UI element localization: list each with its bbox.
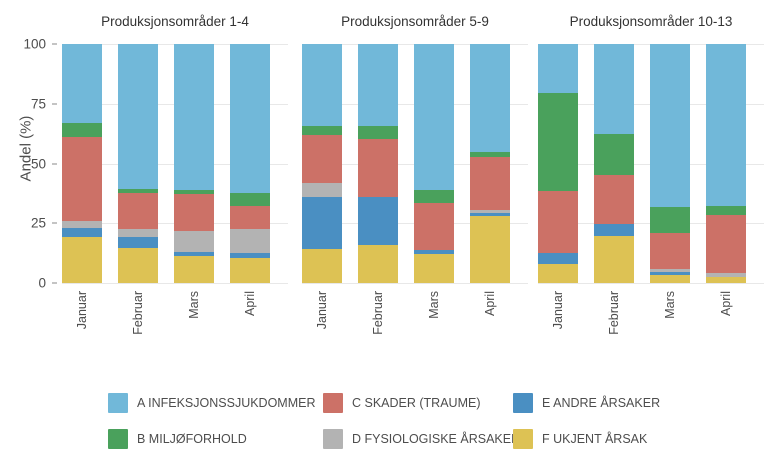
bar-segment-f[interactable] [538,264,578,283]
stacked-bar[interactable] [302,44,342,283]
plot-area [538,44,764,283]
bar-segment-a[interactable] [302,44,342,126]
plot-area [62,44,288,283]
bar-segment-a[interactable] [538,44,578,93]
stacked-bar[interactable] [594,44,634,283]
gridline [538,283,764,284]
stacked-bar[interactable] [650,44,690,283]
bar-segment-c[interactable] [302,135,342,183]
y-axis-tick-label: 0 [0,276,46,291]
bar-segment-e[interactable] [62,228,102,237]
legend-swatch-icon [513,393,533,413]
x-axis-tick-label: Januar [551,291,565,329]
legend-item[interactable]: C SKADER (TRAUME) [323,393,513,413]
x-axis-tick-label: Februar [131,291,145,335]
bar-segment-a[interactable] [470,44,510,152]
bar-segment-e[interactable] [118,237,158,248]
chart-panel: Produksjonsområder 5-9JanuarFebruarMarsA… [302,44,528,283]
bar-segment-b[interactable] [302,126,342,135]
bar-segment-c[interactable] [414,203,454,250]
legend-label: F UKJENT ÅRSAK [542,432,647,446]
bar-segment-f[interactable] [650,275,690,283]
legend-swatch-icon [513,429,533,449]
y-axis-tick-label: 100 [0,37,46,52]
bar-segment-d[interactable] [302,183,342,197]
x-axis-tick-label: Februar [371,291,385,335]
bar-segment-b[interactable] [706,206,746,215]
bar-segment-d[interactable] [118,229,158,237]
bar-segment-e[interactable] [414,250,454,254]
panel-title: Produksjonsområder 10-13 [538,14,764,29]
bar-segment-c[interactable] [706,215,746,273]
x-axis-tick-label: April [243,291,257,316]
legend-swatch-icon [323,429,343,449]
bar-segment-c[interactable] [62,137,102,221]
bar-segment-f[interactable] [230,258,270,283]
x-axis-tick-label: Mars [427,291,441,319]
bar-segment-e[interactable] [174,252,214,256]
bar-segment-a[interactable] [118,44,158,189]
bar-segment-e[interactable] [358,197,398,245]
y-axis-tick-mark [52,44,57,45]
chart-panel: Produksjonsområder 1-4JanuarFebruarMarsA… [62,44,288,283]
legend-label: E ANDRE ÅRSAKER [542,396,660,410]
legend-swatch-icon [108,429,128,449]
y-axis-title: Andel (%) [18,69,35,229]
bar-segment-f[interactable] [358,245,398,283]
bar-segment-c[interactable] [358,139,398,198]
bar-segment-a[interactable] [706,44,746,206]
legend-label: C SKADER (TRAUME) [352,396,480,410]
bar-segment-f[interactable] [302,249,342,283]
y-axis-tick-label: 25 [0,216,46,231]
bar-segment-f[interactable] [470,216,510,283]
bar-segment-c[interactable] [174,194,214,232]
x-axis-tick-label: Mars [187,291,201,319]
legend-label: A INFEKSJONSSJUKDOMMER [137,396,316,410]
legend-swatch-icon [323,393,343,413]
legend-swatch-icon [108,393,128,413]
y-axis-tick-mark [52,103,57,104]
bar-segment-a[interactable] [230,44,270,193]
bar-segment-b[interactable] [650,207,690,233]
bar-segment-b[interactable] [414,190,454,203]
y-axis-tick-label: 75 [0,96,46,111]
stacked-bar[interactable] [414,44,454,283]
bar-segment-d[interactable] [62,221,102,228]
bar-segment-a[interactable] [414,44,454,190]
legend-item[interactable]: E ANDRE ÅRSAKER [513,393,688,413]
bar-segment-a[interactable] [650,44,690,207]
bar-segment-d[interactable] [470,210,510,213]
bar-segment-e[interactable] [470,213,510,216]
x-axis-tick-label: Februar [607,291,621,335]
bar-segment-f[interactable] [62,237,102,283]
bar-segment-c[interactable] [470,157,510,210]
x-axis-tick-label: April [483,291,497,316]
plot-area [302,44,528,283]
legend-item[interactable]: F UKJENT ÅRSAK [513,429,688,449]
panel-title: Produksjonsområder 5-9 [302,14,528,29]
bar-segment-a[interactable] [62,44,102,123]
y-axis-tick-mark [52,283,57,284]
stacked-bar[interactable] [538,44,578,283]
stacked-bar[interactable] [62,44,102,283]
bar-segment-b[interactable] [538,93,578,191]
x-axis-tick-label: Januar [75,291,89,329]
stacked-bar[interactable] [470,44,510,283]
bar-segment-f[interactable] [706,277,746,283]
gridline [62,283,288,284]
bar-segment-c[interactable] [118,193,158,229]
bar-segment-e[interactable] [594,224,634,236]
legend-label: D FYSIOLOGISKE ÅRSAKER [352,432,520,446]
x-axis-tick-label: Mars [663,291,677,319]
bar-segment-b[interactable] [358,126,398,139]
bar-segment-d[interactable] [174,231,214,252]
bar-segment-e[interactable] [302,197,342,249]
bar-segment-c[interactable] [538,191,578,253]
bar-segment-c[interactable] [230,206,270,230]
x-axis-tick-label: Januar [315,291,329,329]
bar-segment-f[interactable] [174,256,214,283]
legend-label: B MILJØFORHOLD [137,432,247,446]
legend-item[interactable]: D FYSIOLOGISKE ÅRSAKER [323,429,513,449]
bar-segment-d[interactable] [230,229,270,253]
bar-segment-a[interactable] [358,44,398,126]
x-axis-tick-label: April [719,291,733,316]
bar-segment-c[interactable] [594,175,634,224]
bar-segment-d[interactable] [650,269,690,272]
y-axis-tick-label: 50 [0,156,46,171]
bar-segment-b[interactable] [118,189,158,193]
bar-segment-b[interactable] [470,152,510,157]
bar-segment-f[interactable] [414,254,454,283]
y-axis-tick-mark [52,223,57,224]
bar-segment-e[interactable] [230,253,270,257]
stacked-bar[interactable] [118,44,158,283]
bar-segment-e[interactable] [538,253,578,264]
gridline [302,283,528,284]
bar-segment-d[interactable] [706,273,746,277]
legend-item[interactable]: A INFEKSJONSSJUKDOMMER [108,393,323,413]
bar-segment-b[interactable] [174,190,214,194]
chart-legend: A INFEKSJONSSJUKDOMMERC SKADER (TRAUME)E… [108,385,688,457]
bar-segment-b[interactable] [230,193,270,206]
chart-panel: Produksjonsområder 10-13JanuarFebruarMar… [538,44,764,283]
bar-segment-b[interactable] [62,123,102,138]
bar-segment-f[interactable] [118,248,158,283]
bar-segment-a[interactable] [594,44,634,134]
bar-segment-c[interactable] [650,233,690,269]
panel-title: Produksjonsområder 1-4 [62,14,288,29]
chart-root: Andel (%) 1007550250 Produksjonsområder … [0,0,768,460]
stacked-bar[interactable] [706,44,746,283]
bar-segment-f[interactable] [594,236,634,283]
bar-segment-b[interactable] [594,134,634,175]
y-axis-tick-mark [52,163,57,164]
stacked-bar[interactable] [358,44,398,283]
stacked-bar[interactable] [230,44,270,283]
legend-item[interactable]: B MILJØFORHOLD [108,429,323,449]
bar-segment-e[interactable] [650,272,690,275]
stacked-bar[interactable] [174,44,214,283]
bar-segment-a[interactable] [174,44,214,190]
